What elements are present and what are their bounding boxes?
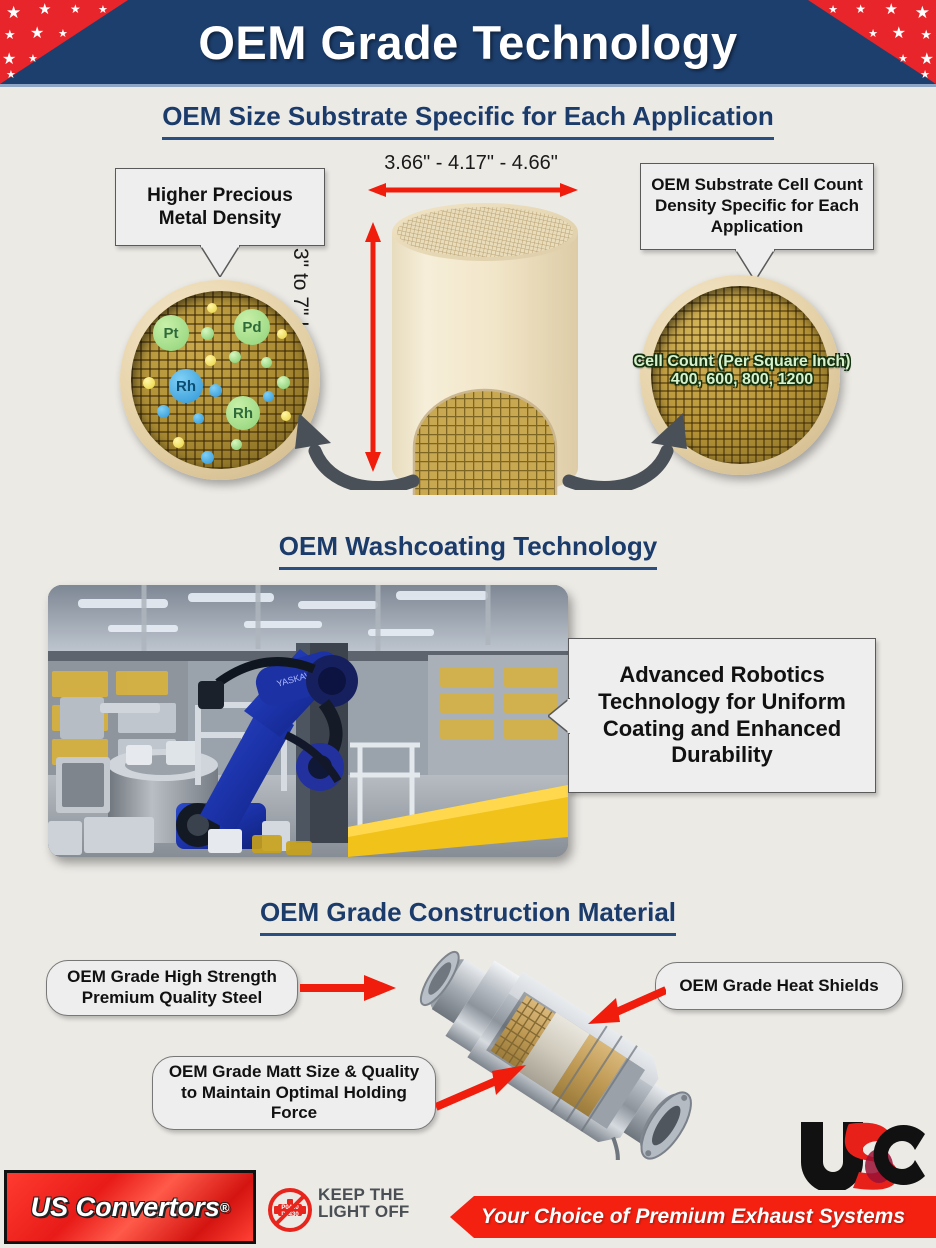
star-icon: ★ <box>828 5 838 16</box>
factory-robot-illustration: YASKAWA <box>48 585 568 857</box>
particle-dot <box>209 384 222 397</box>
arrow-to-heat-shields-icon <box>588 984 666 1024</box>
particle-pd: Pd <box>234 309 270 345</box>
callout-advanced-robotics: Advanced Robotics Technology for Uniform… <box>568 638 876 793</box>
cell-count-annotation: Cell Count (Per Square Inch) 400, 600, 8… <box>592 353 892 390</box>
callout-heat-shields: OEM Grade Heat Shields <box>655 962 903 1010</box>
star-icon: ★ <box>892 26 906 42</box>
particle-dot <box>201 451 214 464</box>
particle-dot <box>229 351 241 363</box>
section-heading-construction: OEM Grade Construction Material <box>0 897 936 936</box>
callout-premium-steel: OEM Grade High Strength Premium Quality … <box>46 960 298 1016</box>
footer-tagline: Your Choice of Premium Exhaust Systems <box>450 1196 936 1238</box>
keep-light-off-text: KEEP THELIGHT OFF <box>318 1186 410 1221</box>
callout-tail-left <box>200 245 240 277</box>
keep-light-off-badge: P0420 P0430 KEEP THELIGHT OFF <box>266 1186 436 1236</box>
curved-arrow-right-icon <box>562 405 697 490</box>
particle-dot <box>263 391 274 402</box>
diameter-arrow-icon <box>368 183 578 197</box>
arrow-to-steel-icon <box>300 975 396 1001</box>
disc-honeycomb-mesh: Pt Pd Rh Rh <box>131 291 309 469</box>
callout-tail-robotics <box>548 698 570 734</box>
usc-logo-mark <box>795 1118 930 1190</box>
star-icon: ★ <box>855 3 866 15</box>
particle-dot <box>201 327 214 340</box>
diameter-label: 3.66" - 4.17" - 4.66" <box>336 152 606 175</box>
callout-matt-size: OEM Grade Matt Size & Quality to Maintai… <box>152 1056 436 1130</box>
page-header: ★ ★ ★ ★ ★ ★ ★ ★ ★ ★ OEM Grade Technology… <box>0 0 936 84</box>
star-icon: ★ <box>920 70 930 81</box>
washcoating-robot-photo: YASKAWA <box>48 585 568 857</box>
star-icon: ★ <box>920 52 934 68</box>
particle-dot <box>157 405 170 418</box>
particle-pt: Pt <box>153 315 189 351</box>
header-underline <box>0 84 936 87</box>
particle-dot <box>231 439 242 450</box>
particle-dot <box>207 303 217 313</box>
particle-rh-blue: Rh <box>169 369 203 403</box>
us-convertors-logo-text: US Convertors® <box>7 1173 253 1241</box>
particle-dot <box>261 357 272 368</box>
particle-rh-green: Rh <box>226 396 260 430</box>
particle-dot <box>143 377 155 389</box>
star-icon: ★ <box>898 54 908 65</box>
section-heading-substrate: OEM Size Substrate Specific for Each App… <box>0 101 936 140</box>
us-convertors-logo: US Convertors® <box>4 1170 256 1244</box>
star-icon: ★ <box>868 29 878 40</box>
star-icon: ★ <box>915 4 930 21</box>
stars-corner-right: ★ ★ ★ ★ ★ ★ ★ ★ ★ ★ <box>786 0 936 84</box>
particle-dot <box>277 329 287 339</box>
star-icon: ★ <box>885 2 898 17</box>
star-icon: ★ <box>920 28 932 41</box>
no-check-engine-light-icon: P0420 P0430 <box>266 1186 314 1234</box>
particle-dot <box>173 437 184 448</box>
section-heading-washcoating: OEM Washcoating Technology <box>0 531 936 570</box>
particle-dot <box>277 376 290 389</box>
particle-dot <box>205 355 216 366</box>
callout-cell-count-density: OEM Substrate Cell Count Density Specifi… <box>640 163 874 250</box>
curved-arrow-left-icon <box>285 405 420 490</box>
callout-precious-metal-density: Higher Precious Metal Density <box>115 168 325 246</box>
arrow-to-matt-icon <box>436 1065 526 1111</box>
registered-mark: ® <box>220 1200 230 1215</box>
particle-dot <box>193 413 204 424</box>
